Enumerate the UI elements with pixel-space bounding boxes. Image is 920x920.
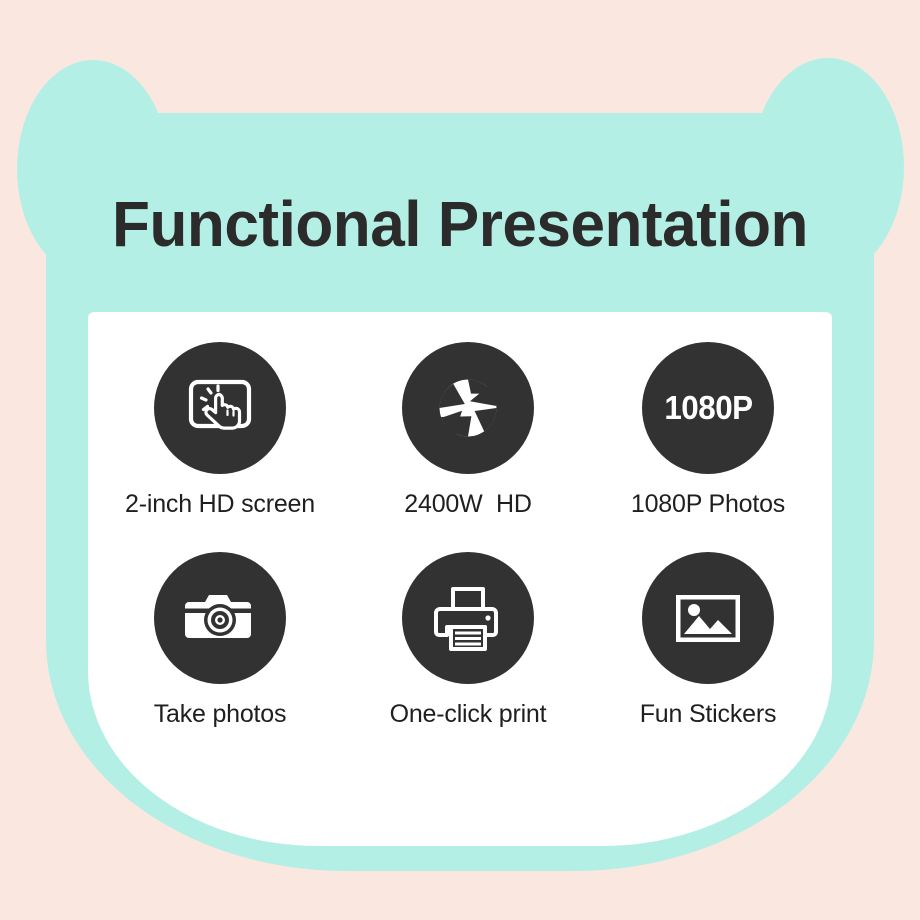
image-picture-icon (642, 552, 774, 684)
camera-icon (154, 552, 286, 684)
touchscreen-tap-icon (154, 342, 286, 474)
feature-label: One-click print (344, 700, 592, 729)
feature-label: Fun Stickers (584, 700, 832, 729)
features-card: 2-inch HD screen (88, 312, 832, 846)
resolution-badge-icon: 1080P (642, 342, 774, 474)
resolution-badge-text: 1080P (664, 389, 752, 427)
feature-item-stickers[interactable]: Fun Stickers (584, 552, 832, 729)
feature-item-touchscreen[interactable]: 2-inch HD screen (96, 342, 344, 519)
feature-item-print[interactable]: One-click print (344, 552, 592, 729)
feature-item-take-photos[interactable]: Take photos (96, 552, 344, 729)
feature-item-resolution[interactable]: 1080P 1080P Photos (584, 342, 832, 519)
printer-icon (402, 552, 534, 684)
features-grid: 2-inch HD screen (88, 312, 832, 846)
feature-label: 1080P Photos (584, 490, 832, 519)
camera-aperture-icon (402, 342, 534, 474)
feature-label: 2-inch HD screen (96, 490, 344, 519)
page-title: Functional Presentation (14, 192, 906, 256)
feature-label: Take photos (96, 700, 344, 729)
feature-label: 2400W HD (344, 490, 592, 519)
functional-presentation-poster: Functional Presentation (0, 0, 920, 920)
feature-item-aperture[interactable]: 2400W HD (344, 342, 592, 519)
